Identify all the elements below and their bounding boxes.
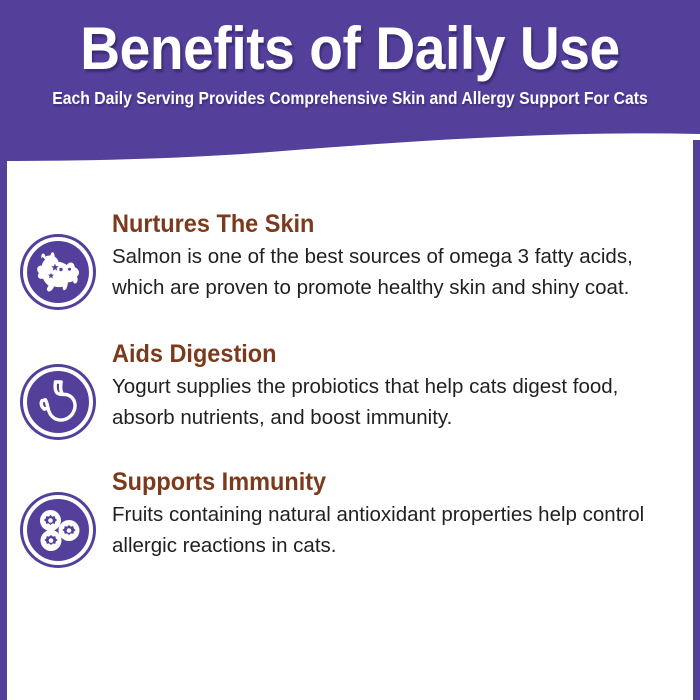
benefit-text-block: Supports Immunity Fruits containing natu… xyxy=(98,464,676,561)
header-curve-shape xyxy=(0,0,700,175)
benefit-item-aids-digestion: Aids Digestion Yogurt supplies the probi… xyxy=(0,336,700,442)
left-purple-rail xyxy=(0,140,7,700)
benefit-item-supports-immunity: Supports Immunity Fruits containing natu… xyxy=(0,464,700,570)
cat-sparkle-icon xyxy=(18,232,98,312)
benefit-text-block: Aids Digestion Yogurt supplies the probi… xyxy=(98,336,676,433)
immune-cells-icon xyxy=(18,490,98,570)
benefit-heading: Supports Immunity xyxy=(112,468,642,497)
benefit-description: Yogurt supplies the probiotics that help… xyxy=(112,371,657,433)
right-purple-rail xyxy=(693,140,700,700)
benefit-heading: Aids Digestion xyxy=(112,340,642,369)
stomach-icon xyxy=(18,362,98,442)
benefits-poster: Benefits of Daily Use Each Daily Serving… xyxy=(0,0,700,700)
benefit-heading: Nurtures The Skin xyxy=(112,210,642,239)
benefit-description: Fruits containing natural antioxidant pr… xyxy=(112,499,657,561)
header-band xyxy=(0,0,700,175)
benefit-item-nurtures-the-skin: Nurtures The Skin Salmon is one of the b… xyxy=(0,206,700,312)
benefit-description: Salmon is one of the best sources of ome… xyxy=(112,241,657,303)
benefit-text-block: Nurtures The Skin Salmon is one of the b… xyxy=(98,206,676,303)
benefits-list: Nurtures The Skin Salmon is one of the b… xyxy=(0,206,700,570)
